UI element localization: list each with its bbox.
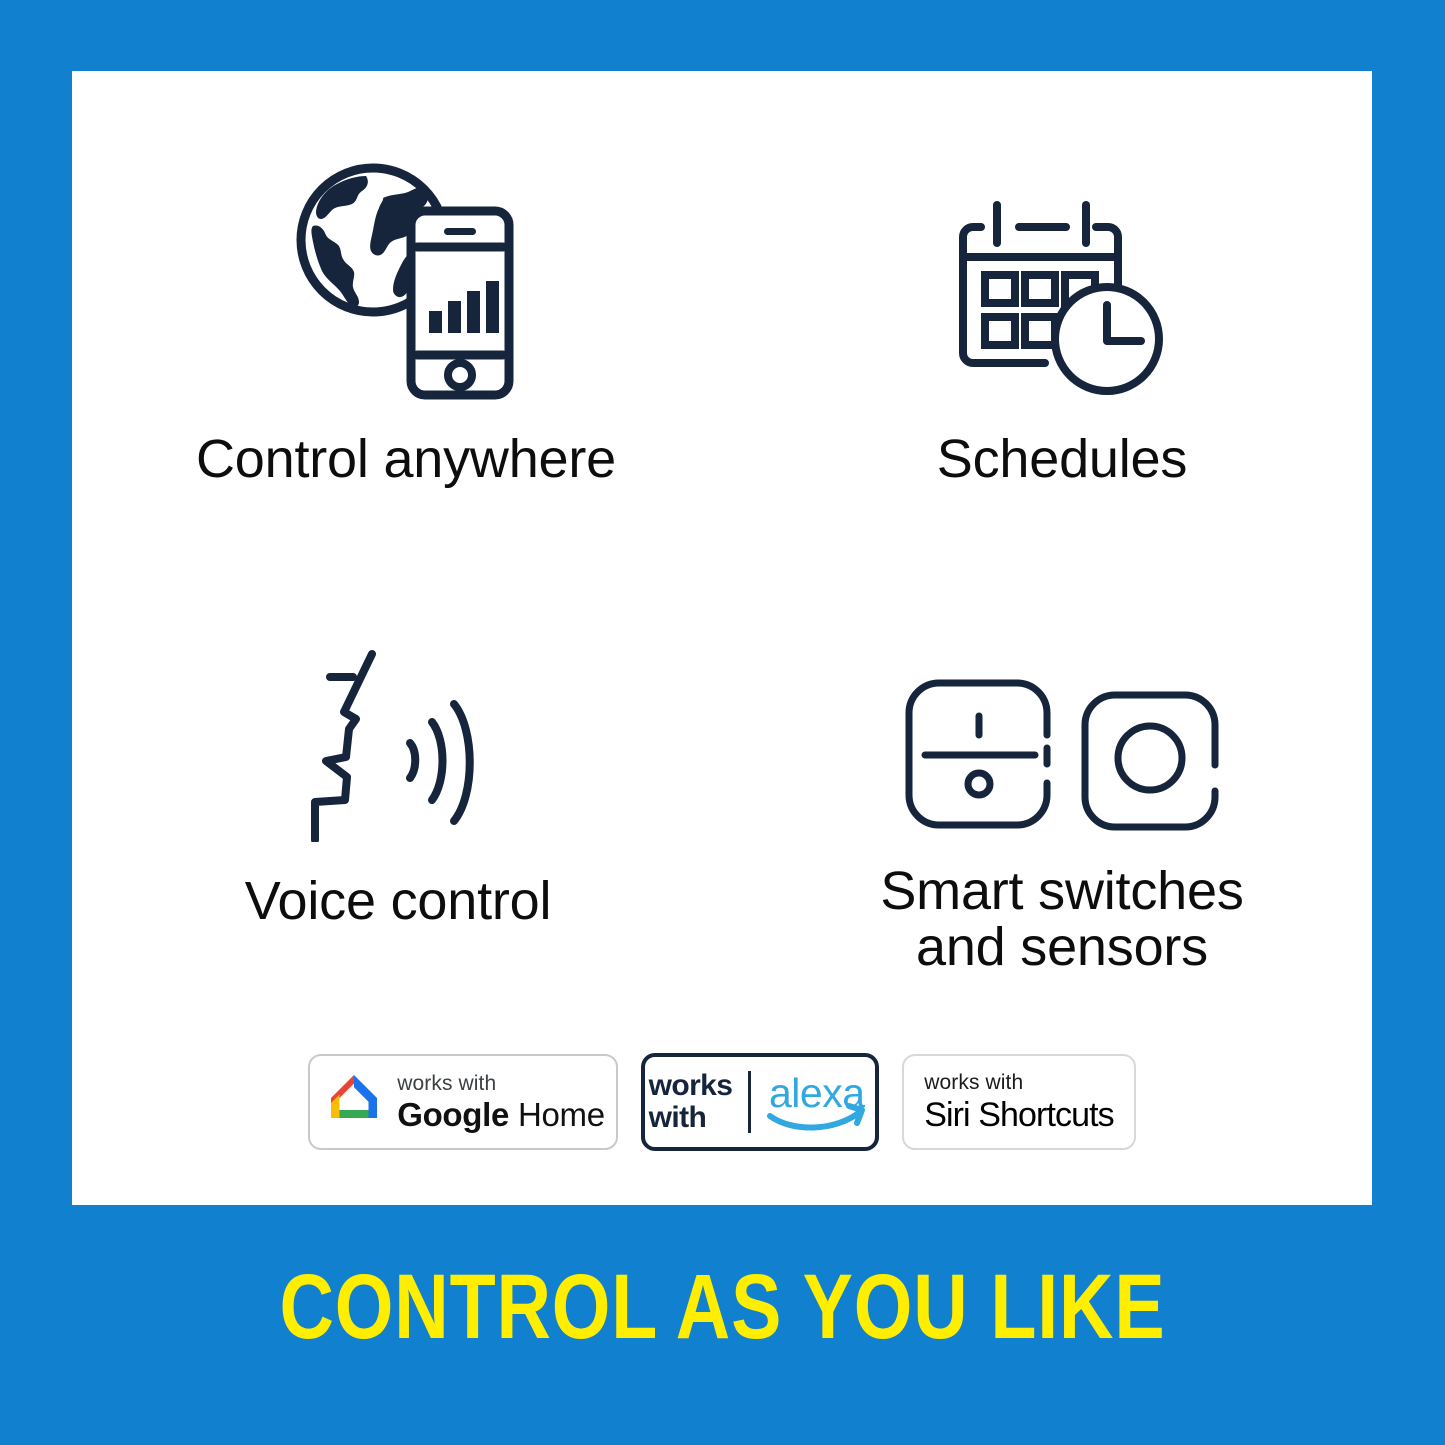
alexa-works-with-text: works with [649,1070,749,1134]
alexa-logo: alexa [767,1070,871,1134]
feature-label: Schedules [937,431,1187,487]
badge-small-label: works with [397,1073,605,1094]
feature-grid: Control anywhere [72,157,1372,1037]
brand-bold: Google [397,1096,509,1133]
smart-switch-and-sensor-icon [897,659,1227,851]
brand-light: Home [509,1096,605,1133]
poster-headline: CONTROL AS YOU LIKE [130,1255,1315,1360]
badge-small-label: works with [924,1072,1023,1093]
badge-small-label-line1: works [649,1070,733,1102]
feature-label: Smart switches and sensors [880,863,1243,975]
alexa-badge-inner: works with alexa [649,1070,872,1134]
feature-label-line1: Smart switches [880,863,1243,919]
promo-poster: Control anywhere [0,0,1445,1445]
badge-alexa[interactable]: works with alexa [641,1053,879,1151]
google-home-house-icon [325,1072,383,1133]
globe-and-phone-icon [287,157,525,419]
feature-label: Voice control [245,873,552,929]
feature-schedules: Schedules [722,157,1372,597]
feature-label: Control anywhere [196,431,616,487]
badge-brand-label: Siri Shortcuts [924,1098,1114,1132]
badge-siri-shortcuts[interactable]: works with Siri Shortcuts [902,1054,1136,1150]
speaking-head-soundwaves-icon [298,623,498,861]
compatibility-badge-row: works with Google Home works with alexa [72,1053,1372,1151]
feature-label-line2: and sensors [880,919,1243,975]
google-home-text: works with Google Home [397,1073,605,1131]
alexa-divider [748,1071,751,1133]
feature-smart-switches: Smart switches and sensors [722,597,1372,1037]
calendar-clock-icon [951,175,1173,419]
badge-google-home[interactable]: works with Google Home [308,1054,618,1150]
badge-small-label-line2: with [649,1102,733,1134]
feature-card: Control anywhere [72,71,1372,1205]
feature-control-anywhere: Control anywhere [72,157,722,597]
siri-badge-text: works with Siri Shortcuts [924,1072,1114,1132]
feature-voice-control: Voice control [72,597,722,1037]
badge-brand-label: Google Home [397,1098,605,1131]
